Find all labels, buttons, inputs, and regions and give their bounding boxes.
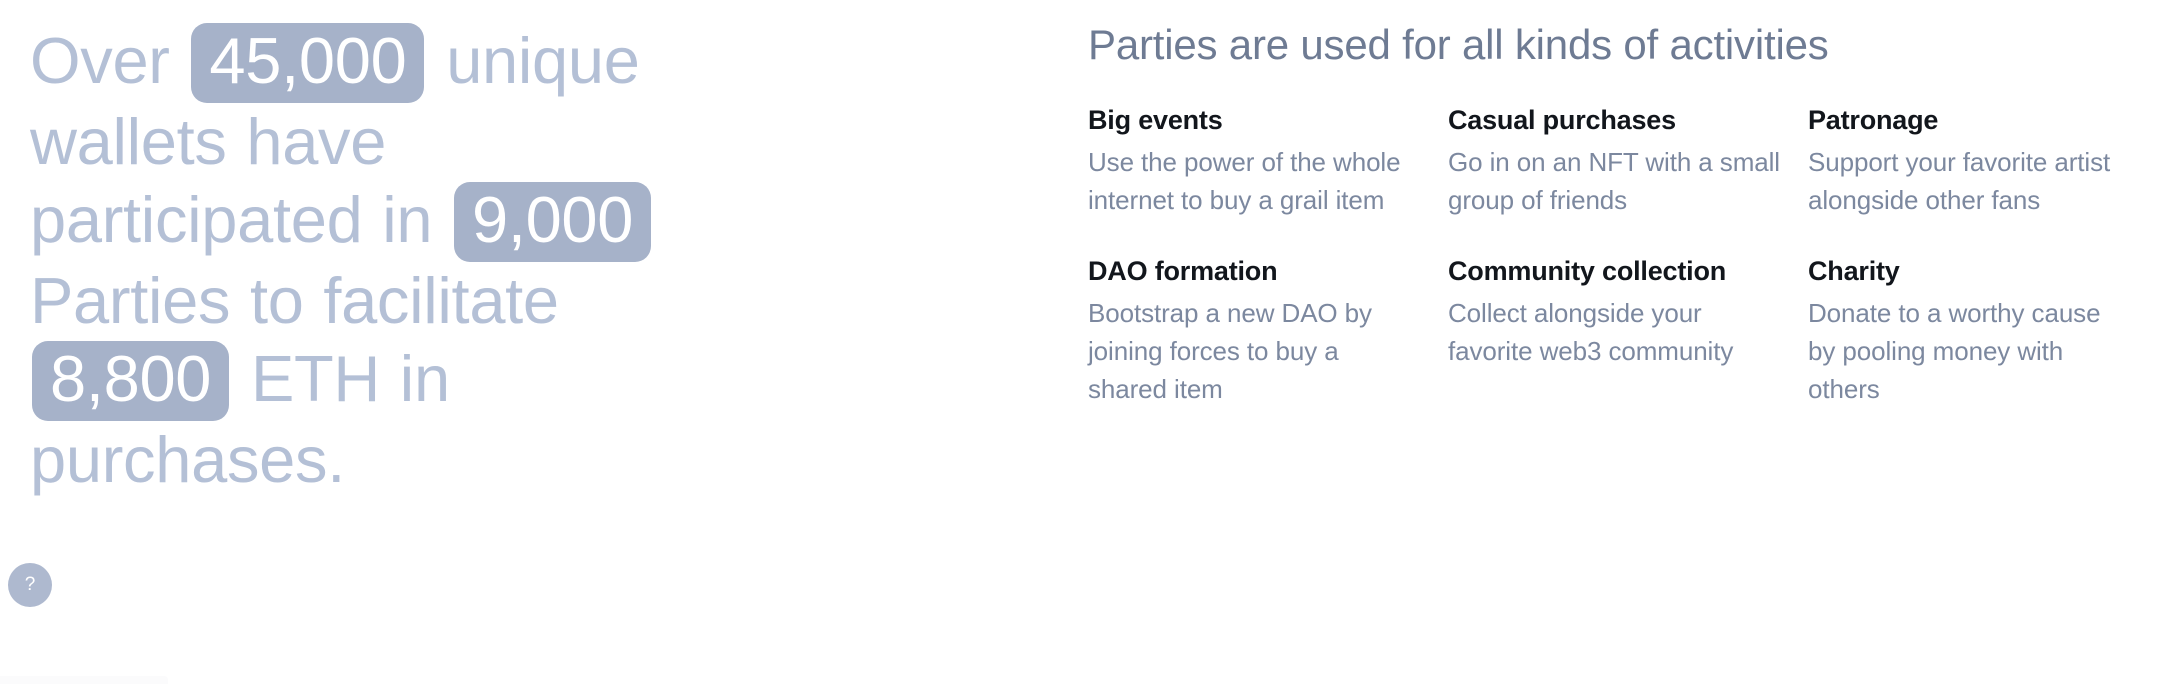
activity-card-community-collection: Community collection Collect alongside y… bbox=[1448, 255, 1808, 408]
activity-card-body: Go in on an NFT with a small group of fr… bbox=[1448, 143, 1780, 219]
activity-card-title: Casual purchases bbox=[1448, 104, 1780, 137]
stat-badge-eth: 8,800 bbox=[32, 341, 229, 421]
stat-badge-parties: 9,000 bbox=[454, 182, 651, 262]
help-badge-label: ? bbox=[25, 574, 36, 596]
help-icon[interactable]: ? bbox=[8, 563, 52, 607]
activities-panel: Parties are used for all kinds of activi… bbox=[1088, 20, 2148, 408]
activity-card-body: Support your favorite artist alongside o… bbox=[1808, 143, 2120, 219]
bottom-edge-sliver bbox=[0, 676, 168, 684]
activity-card-dao-formation: DAO formation Bootstrap a new DAO by joi… bbox=[1088, 255, 1448, 408]
activity-card-title: DAO formation bbox=[1088, 255, 1420, 288]
activities-grid: Big events Use the power of the whole in… bbox=[1088, 104, 2148, 408]
activity-card-title: Patronage bbox=[1808, 104, 2120, 137]
headline-segment-1: Over bbox=[30, 24, 170, 97]
activity-card-charity: Charity Donate to a worthy cause by pool… bbox=[1808, 255, 2148, 408]
stat-badge-wallets: 45,000 bbox=[191, 23, 424, 103]
activity-card-title: Charity bbox=[1808, 255, 2120, 288]
activity-card-casual-purchases: Casual purchases Go in on an NFT with a … bbox=[1448, 104, 1808, 219]
activity-card-body: Collect alongside your favorite web3 com… bbox=[1448, 294, 1780, 370]
headline-segment-3: Parties to facilitate bbox=[30, 264, 559, 337]
stats-headline: Over 45,000 unique wallets have particip… bbox=[30, 22, 730, 499]
activity-card-body: Use the power of the whole internet to b… bbox=[1088, 143, 1420, 219]
activity-card-body: Donate to a worthy cause by pooling mone… bbox=[1808, 294, 2120, 408]
activities-heading: Parties are used for all kinds of activi… bbox=[1088, 20, 2148, 70]
activity-card-title: Community collection bbox=[1448, 255, 1780, 288]
activity-card-big-events: Big events Use the power of the whole in… bbox=[1088, 104, 1448, 219]
activity-card-body: Bootstrap a new DAO by joining forces to… bbox=[1088, 294, 1420, 408]
activity-card-title: Big events bbox=[1088, 104, 1420, 137]
page-root: Over 45,000 unique wallets have particip… bbox=[0, 0, 2172, 682]
activity-card-patronage: Patronage Support your favorite artist a… bbox=[1808, 104, 2148, 219]
stats-headline-panel: Over 45,000 unique wallets have particip… bbox=[30, 22, 730, 499]
